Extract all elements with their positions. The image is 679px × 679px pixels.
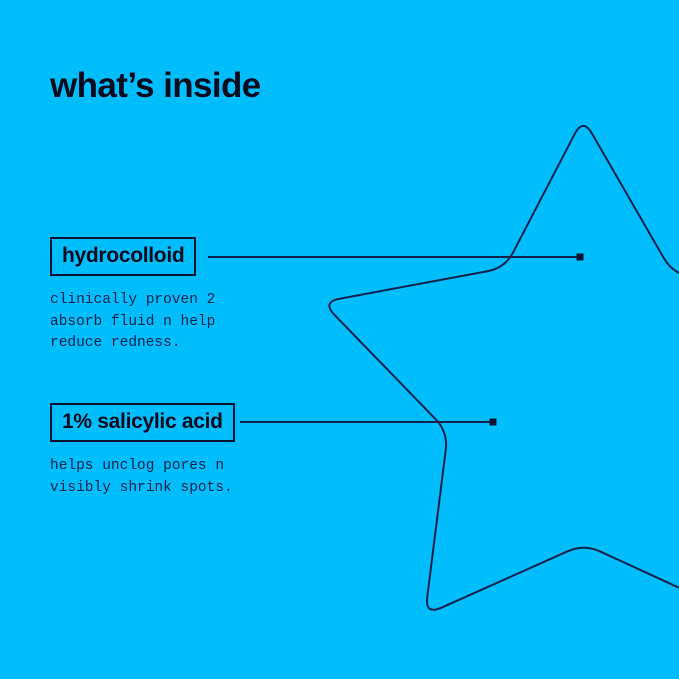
callout-salicylic-acid: 1% salicylic acid helps unclog pores n v… [50, 403, 235, 499]
callout-label-hydrocolloid: hydrocolloid [62, 244, 184, 267]
callout-box-hydrocolloid: hydrocolloid [50, 237, 196, 276]
leader-endpoint-hydrocolloid [577, 254, 584, 261]
leader-endpoint-salicylic [490, 419, 497, 426]
leader-lines [208, 254, 584, 426]
callout-label-salicylic-acid: 1% salicylic acid [62, 410, 223, 433]
page-title: what’s inside [50, 66, 261, 106]
rounded-star-outline-icon [329, 126, 679, 620]
callout-hydrocolloid: hydrocolloid clinically proven 2 absorb … [50, 237, 215, 355]
callout-body-hydrocolloid: clinically proven 2 absorb fluid n help … [50, 290, 215, 355]
callout-box-salicylic-acid: 1% salicylic acid [50, 403, 235, 442]
poster-canvas: what’s inside hydrocolloid clinically pr… [0, 0, 679, 679]
callout-body-salicylic-acid: helps unclog pores n visibly shrink spot… [50, 456, 235, 499]
